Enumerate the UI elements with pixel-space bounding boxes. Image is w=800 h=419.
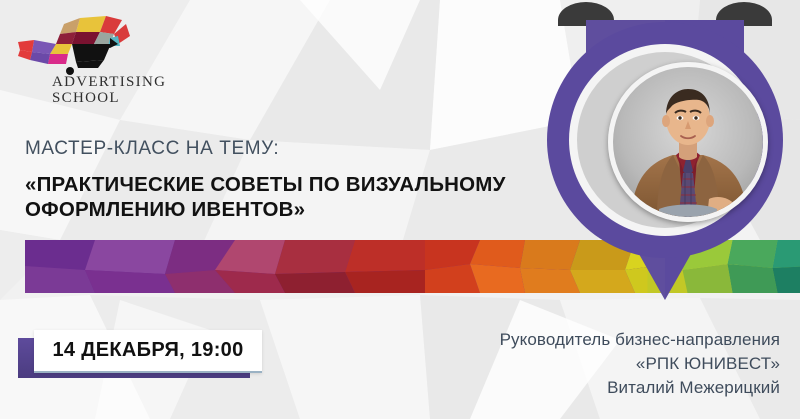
kicker-text: МАСТЕР-КЛАСС НА ТЕМУ:	[25, 138, 545, 160]
headline-block: МАСТЕР-КЛАСС НА ТЕМУ: «ПРАКТИЧЕСКИЕ СОВЕ…	[25, 138, 545, 222]
poster-canvas: ADVERTISING SCHOOL МАСТЕР-КЛАСС НА ТЕМУ:…	[0, 0, 800, 419]
title-line-2: ОФОРМЛЕНИЮ ИВЕНТОВ»	[25, 197, 545, 222]
brand-logo: ADVERTISING SCHOOL	[14, 14, 174, 106]
portrait-photo-speaker	[608, 62, 768, 222]
date-badge-box: 14 ДЕКАБРЯ, 19:00	[34, 330, 262, 373]
date-badge-text: 14 ДЕКАБРЯ, 19:00	[53, 339, 244, 362]
brand-wordmark: ADVERTISING SCHOOL	[52, 74, 166, 106]
speaker-name: Виталий Межерицкий	[360, 376, 780, 400]
speaker-role: Руководитель бизнес-направления	[360, 328, 780, 352]
date-badge: 14 ДЕКАБРЯ, 19:00	[18, 330, 278, 386]
speaker-info: Руководитель бизнес-направления «РПК ЮНИ…	[360, 328, 780, 400]
page-title: «ПРАКТИЧЕСКИЕ СОВЕТЫ ПО ВИЗУАЛЬНОМУ ОФОР…	[25, 172, 545, 222]
wordmark-line2: SCHOOL	[52, 90, 120, 106]
title-line-1: «ПРАКТИЧЕСКИЕ СОВЕТЫ ПО ВИЗУАЛЬНОМУ	[25, 173, 506, 196]
speaker-company: «РПК ЮНИВЕСТ»	[360, 352, 780, 376]
wordmark-line1: ADVERTISING	[52, 74, 166, 90]
bird-logo-icon	[14, 14, 144, 76]
